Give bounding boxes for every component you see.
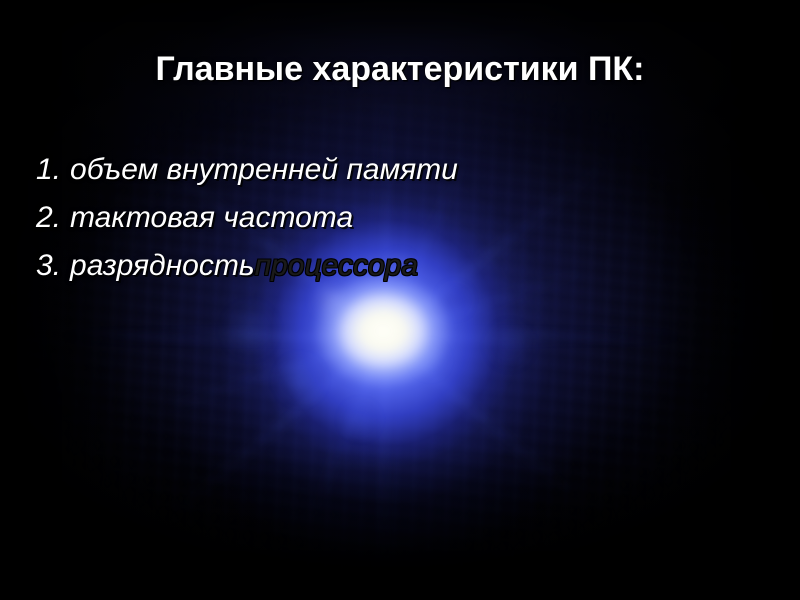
list-item: 3. разрядность процессора <box>36 242 776 290</box>
list-item-label: разрядность <box>70 242 255 290</box>
characteristics-list: 1. объем внутренней памяти 2. тактовая ч… <box>36 146 776 290</box>
list-item-label-overlap: процессора <box>255 242 418 290</box>
list-item-number: 3. <box>36 242 61 290</box>
list-item: 2. тактовая частота <box>36 194 776 242</box>
list-item-label: объем внутренней памяти <box>70 146 458 194</box>
list-item-number: 2. <box>36 194 61 242</box>
presentation-slide: Главные характеристики ПК: 1. объем внут… <box>0 0 800 600</box>
slide-content: Главные характеристики ПК: 1. объем внут… <box>0 0 800 600</box>
list-item-number: 1. <box>36 146 61 194</box>
list-item: 1. объем внутренней памяти <box>36 146 776 194</box>
slide-title: Главные характеристики ПК: <box>0 48 800 90</box>
list-item-label: тактовая частота <box>70 194 353 242</box>
